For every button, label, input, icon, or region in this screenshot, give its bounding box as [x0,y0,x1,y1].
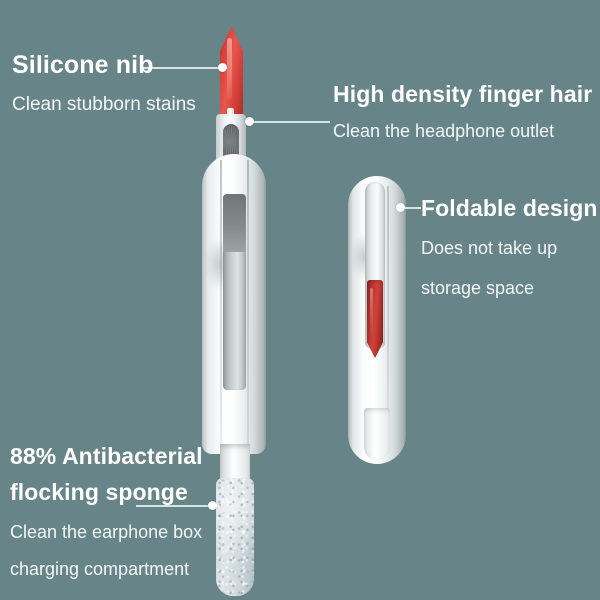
callout-sub-flocking-sponge-line2: charging compartment [10,551,203,588]
silicone-nib-highlight [227,38,232,100]
callout-title-silicone-nib: Silicone nib [12,50,196,80]
callout-foldable-design: Foldable design Does not take up storage… [421,194,598,308]
folded-pen-foot-cap [364,408,390,460]
callout-title-foldable-design: Foldable design [421,194,598,222]
callout-silicone-nib: Silicone nib Clean stubborn stains [12,50,196,118]
callout-flocking-sponge: 88% Antibacterial flocking sponge Clean … [10,438,203,588]
leader-line-finger-hair [252,121,330,123]
callout-sub-foldable-design-line1: Does not take up [421,228,598,268]
leader-dot-silicone-nib [218,63,227,72]
leader-line-foldable [405,207,421,209]
product-image-open-pen [196,26,292,580]
product-infographic: Silicone nib Clean stubborn stains High … [0,0,600,600]
barrel-channel-shadow [223,194,246,252]
callout-title-finger-hair: High density finger hair [333,80,592,108]
callout-title-flocking-sponge-line1: 88% Antibacterial [10,438,203,474]
leader-dot-finger-hair [245,117,254,126]
barrel-seam-right [247,160,249,450]
leader-dot-foldable [396,203,405,212]
barrel-seam-left [220,160,222,450]
leader-dot-sponge [208,501,217,510]
callout-sub-finger-hair: Clean the headphone outlet [333,119,592,144]
product-image-folded-pen [344,176,424,466]
folded-nib-highlight [370,288,373,338]
flocking-sponge-part [216,478,254,596]
callout-sub-silicone-nib: Clean stubborn stains [12,92,196,118]
callout-sub-flocking-sponge-line1: Clean the earphone box [10,514,203,551]
callout-sub-foldable-design-line2: storage space [421,268,598,308]
callout-finger-hair: High density finger hair Clean the headp… [333,80,592,144]
callout-title-flocking-sponge-line2: flocking sponge [10,474,203,510]
